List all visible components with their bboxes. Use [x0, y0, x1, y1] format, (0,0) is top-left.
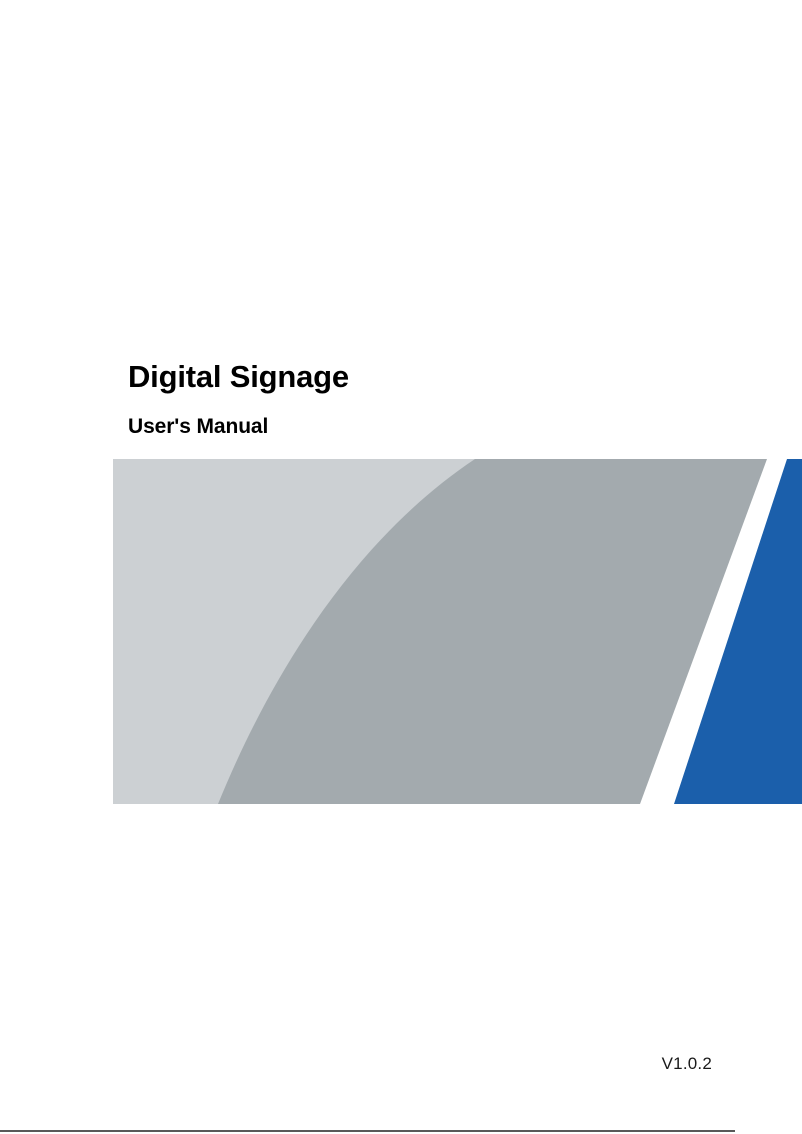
version-label: V1.0.2 — [0, 1054, 712, 1074]
cover-page: Digital Signage User's Manual V1.0 — [0, 0, 802, 1134]
title-block: Digital Signage User's Manual — [128, 358, 748, 440]
cover-banner-graphic — [113, 459, 802, 804]
cover-banner-svg — [113, 459, 802, 804]
footer-divider — [0, 1130, 735, 1132]
page-subtitle: User's Manual — [128, 414, 748, 440]
page-title: Digital Signage — [128, 358, 748, 396]
